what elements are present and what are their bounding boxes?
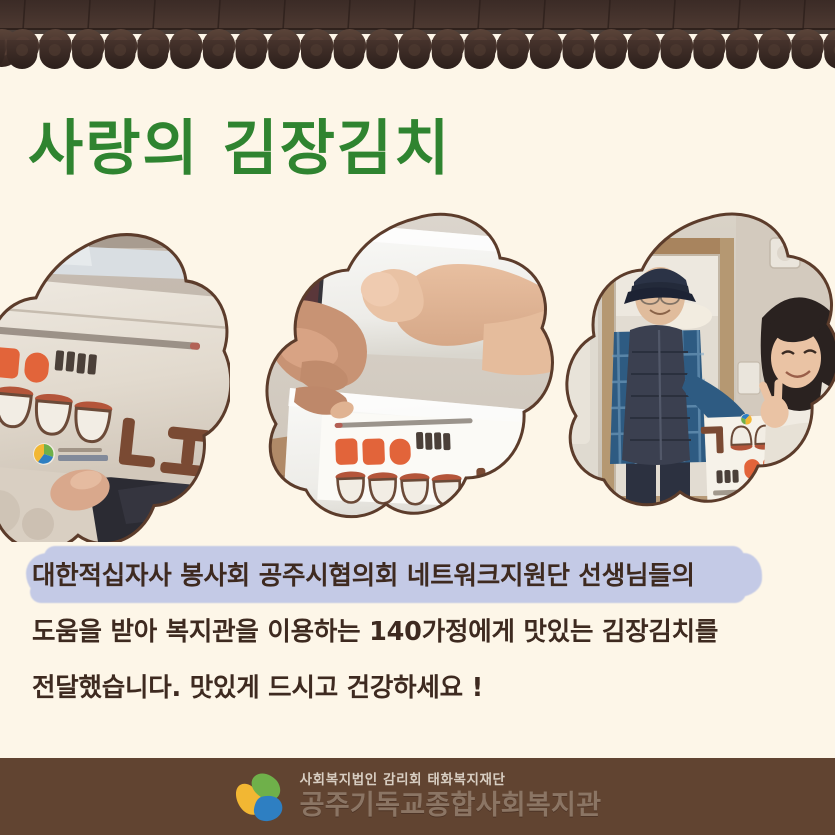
description-line-3-text: 전달했습니다. 맛있게 드시고 건강하세요 !: [32, 673, 483, 703]
korean-roof-tiles-decoration: [0, 0, 835, 78]
organization-names: 사회복지법인 감리회 태화복지재단 공주기독교종합사회복지관: [300, 774, 602, 819]
promo-card: 사랑의 김장김치: [0, 0, 835, 835]
description-line-3: 전달했습니다. 맛있게 드시고 건강하세요 !: [32, 660, 835, 716]
footer-bar: 사회복지법인 감리회 태화복지재단 공주기독교종합사회복지관: [0, 758, 835, 835]
photo-delivery-recipient: [560, 212, 835, 522]
welfare-center-name: 공주기독교종합사회복지관: [300, 792, 602, 819]
photo-kimchi-box-label: [0, 212, 230, 542]
photo-hands-holding-box: [262, 212, 572, 532]
photo-gallery: [0, 212, 835, 552]
page-title: 사랑의 김장김치: [28, 100, 451, 187]
foundation-name: 사회복지법인 감리회 태화복지재단: [300, 774, 602, 788]
description-line-1-text: 대한적십자사 봉사회 공주시협의회 네트워크지원단 선생님들의: [32, 561, 695, 591]
description-line-2: 도움을 받아 복지관을 이용하는 140가정에게 맛있는 김장김치를: [32, 604, 835, 660]
description-line-2-text: 도움을 받아 복지관을 이용하는 140가정에게 맛있는 김장김치를: [32, 617, 718, 647]
description-line-1: 대한적십자사 봉사회 공주시협의회 네트워크지원단 선생님들의: [32, 548, 835, 604]
taehwa-swirl-logo-icon: [234, 770, 288, 824]
description-block: 대한적십자사 봉사회 공주시협의회 네트워크지원단 선생님들의 도움을 받아 복…: [0, 548, 835, 716]
